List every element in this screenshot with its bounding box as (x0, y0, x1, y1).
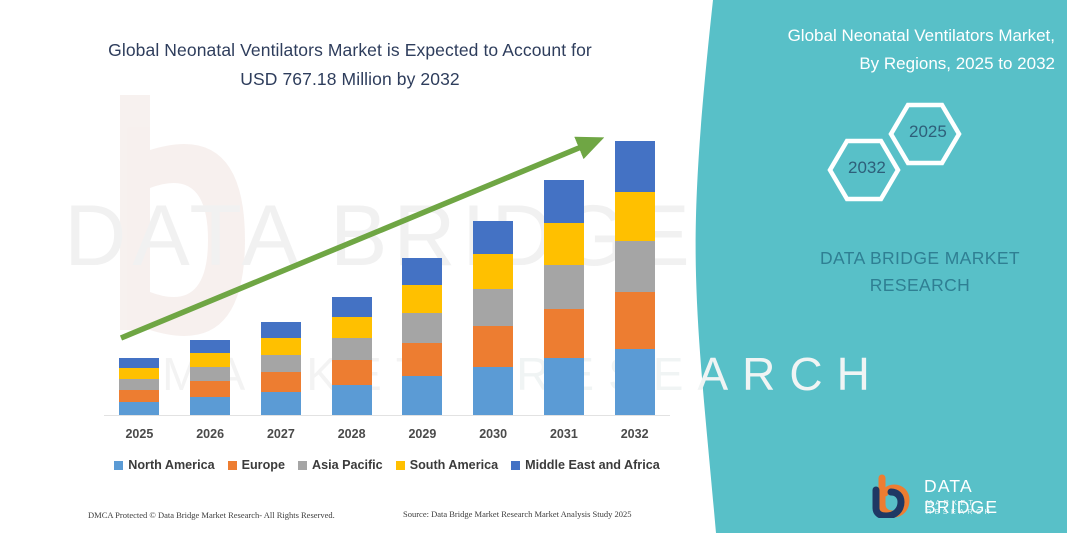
brand-line1: DATA BRIDGE MARKET (775, 245, 1065, 272)
data-bridge-b-logo-icon (872, 474, 920, 518)
bar-segment (332, 297, 372, 317)
bar-segment (119, 368, 159, 379)
bar-segment (544, 223, 584, 265)
legend-swatch-icon (298, 461, 307, 470)
bar-2028 (332, 297, 372, 415)
bar-segment (190, 381, 230, 397)
x-tick-2028: 2028 (317, 427, 387, 441)
bar-segment (332, 360, 372, 385)
bar-2032 (615, 141, 655, 415)
bar-segment (402, 258, 442, 285)
bar-segment (544, 358, 584, 415)
bar-segment (119, 402, 159, 415)
panel-title: Global Neonatal Ventilators Market, By R… (740, 22, 1055, 78)
logo-subtitle: MARKET RESEARCH (926, 498, 1047, 516)
chart-legend: North AmericaEuropeAsia PacificSouth Ame… (104, 458, 670, 472)
bar-2030 (473, 221, 513, 415)
x-tick-2030: 2030 (458, 427, 528, 441)
x-axis-tick-labels: 20252026202720282029203020312032 (104, 427, 670, 447)
panel-title-line1: Global Neonatal Ventilators Market, (740, 22, 1055, 50)
legend-label: Middle East and Africa (525, 458, 660, 472)
bar-segment (544, 265, 584, 309)
panel-title-line2: By Regions, 2025 to 2032 (740, 50, 1055, 78)
bar-segment (473, 289, 513, 326)
x-tick-2026: 2026 (175, 427, 245, 441)
bar-2027 (261, 322, 301, 415)
bar-segment (261, 338, 301, 355)
legend-item[interactable]: North America (114, 458, 214, 472)
legend-swatch-icon (396, 461, 405, 470)
bar-segment (119, 379, 159, 390)
bar-segment (544, 180, 584, 223)
legend-item[interactable]: Asia Pacific (298, 458, 383, 472)
bar-segment (402, 313, 442, 343)
bar-segment (261, 372, 301, 392)
x-tick-2029: 2029 (387, 427, 457, 441)
bar-segment (615, 241, 655, 292)
bar-segment (119, 358, 159, 368)
legend-swatch-icon (114, 461, 123, 470)
brand-name: DATA BRIDGE MARKET RESEARCH (775, 245, 1065, 299)
legend-swatch-icon (228, 461, 237, 470)
bar-segment (473, 367, 513, 415)
legend-item[interactable]: South America (396, 458, 498, 472)
legend-item[interactable]: Europe (228, 458, 285, 472)
bar-2026 (190, 340, 230, 415)
data-bridge-logo: DATA BRIDGE MARKET RESEARCH (872, 474, 1047, 520)
bar-segment (119, 390, 159, 402)
bar-segment (615, 292, 655, 349)
bar-segment (402, 343, 442, 376)
stacked-bar-chart: 20252026202720282029203020312032 North A… (0, 0, 700, 500)
legend-swatch-icon (511, 461, 520, 470)
bar-segment (190, 397, 230, 415)
x-axis-line (104, 415, 670, 416)
bar-2025 (119, 358, 159, 415)
year-hexagons: 2032 2025 (820, 95, 1025, 210)
bar-segment (544, 309, 584, 358)
legend-label: North America (128, 458, 214, 472)
legend-label: Europe (242, 458, 285, 472)
legend-label: Asia Pacific (312, 458, 383, 472)
bar-segment (261, 355, 301, 373)
source-note: Source: Data Bridge Market Research Mark… (403, 509, 632, 519)
bar-segment (332, 317, 372, 338)
bar-segment (190, 340, 230, 353)
bar-segment (402, 285, 442, 313)
bar-2031 (544, 180, 584, 415)
bar-segment (473, 221, 513, 254)
bar-2029 (402, 258, 442, 415)
hex-label-2032: 2032 (848, 158, 886, 178)
bar-segment (332, 338, 372, 361)
legend-label: South America (410, 458, 498, 472)
dmca-notice: DMCA Protected © Data Bridge Market Rese… (88, 510, 335, 520)
bar-segment (615, 192, 655, 241)
legend-item[interactable]: Middle East and Africa (511, 458, 660, 472)
bar-segment (473, 326, 513, 367)
bar-segment (473, 254, 513, 289)
bar-segment (615, 349, 655, 415)
bar-segment (615, 141, 655, 192)
x-tick-2031: 2031 (529, 427, 599, 441)
bar-segment (402, 376, 442, 415)
x-tick-2032: 2032 (600, 427, 670, 441)
bar-segment (190, 353, 230, 367)
bar-segment (261, 392, 301, 415)
bar-segment (332, 385, 372, 415)
plot-area (104, 120, 670, 415)
hexagon-outlines-icon (820, 95, 1025, 210)
bar-segment (190, 367, 230, 382)
x-tick-2025: 2025 (104, 427, 174, 441)
hex-label-2025: 2025 (909, 122, 947, 142)
x-tick-2027: 2027 (246, 427, 316, 441)
infographic-page: DATA BRIDGE MARKET RESEARCH Global Neona… (0, 0, 1067, 533)
bar-segment (261, 322, 301, 338)
brand-line2: RESEARCH (775, 272, 1065, 299)
